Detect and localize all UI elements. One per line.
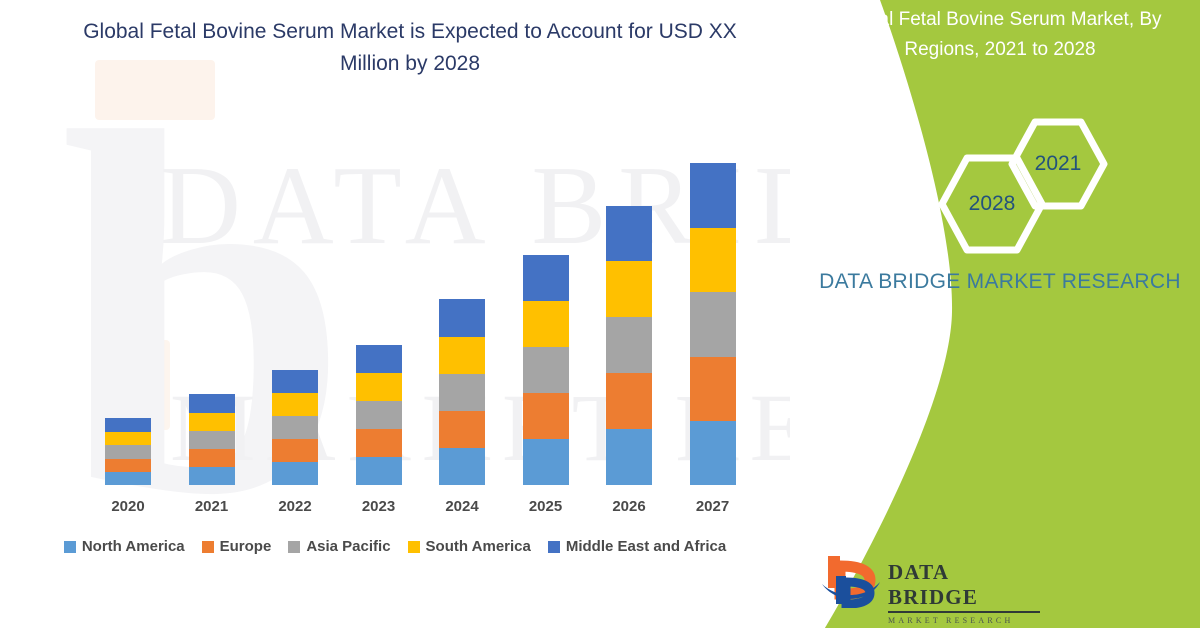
hex-2028: 2028 — [938, 154, 1046, 254]
legend-swatch-icon — [548, 541, 560, 553]
legend-label: Europe — [220, 538, 272, 555]
bar-segment[interactable] — [105, 472, 151, 485]
bar-2022[interactable] — [272, 370, 318, 485]
bar-segment[interactable] — [105, 459, 151, 472]
brand-name: DATA BRIDGE MARKET RESEARCH — [800, 268, 1200, 296]
bar-segment[interactable] — [690, 292, 736, 357]
hexagon-group: 2021 2028 — [908, 118, 1108, 248]
bar-segment[interactable] — [272, 439, 318, 462]
bar-segment[interactable] — [356, 401, 402, 429]
bar-2025[interactable] — [523, 255, 569, 485]
bar-segment[interactable] — [439, 448, 485, 485]
green-side-panel — [760, 0, 1200, 628]
bar-segment[interactable] — [523, 301, 569, 347]
bar-segment[interactable] — [606, 429, 652, 485]
x-axis-label-2022: 2022 — [260, 498, 330, 515]
legend-item-north-america[interactable]: North America — [64, 538, 185, 555]
bar-segment[interactable] — [606, 373, 652, 429]
bar-segment[interactable] — [523, 347, 569, 393]
hex-2021-label: 2021 — [1035, 152, 1082, 176]
x-axis-labels: 20202021202220232024202520262027 — [0, 498, 790, 522]
bar-segment[interactable] — [690, 163, 736, 228]
x-axis-label-2021: 2021 — [177, 498, 247, 515]
bar-segment[interactable] — [356, 345, 402, 373]
legend-label: Asia Pacific — [306, 538, 390, 555]
logo-text: DATA BRIDGE MARKET RESEARCH — [888, 560, 1040, 625]
bar-segment[interactable] — [105, 418, 151, 432]
bar-segment[interactable] — [690, 421, 736, 485]
bar-2027[interactable] — [690, 163, 736, 485]
hex-2028-label: 2028 — [969, 192, 1016, 216]
x-axis-label-2025: 2025 — [511, 498, 581, 515]
bar-segment[interactable] — [356, 429, 402, 457]
bar-segment[interactable] — [523, 255, 569, 301]
bar-segment[interactable] — [189, 449, 235, 467]
bar-segment[interactable] — [272, 462, 318, 485]
bar-2024[interactable] — [439, 299, 485, 485]
legend-item-south-america[interactable]: South America — [408, 538, 531, 555]
bar-segment[interactable] — [439, 374, 485, 411]
bar-2021[interactable] — [189, 394, 235, 485]
bar-segment[interactable] — [690, 357, 736, 421]
infographic-canvas: b DATA BRIDGE MARKET RESEARCH Global Fet… — [0, 0, 1200, 628]
chart-title: Global Fetal Bovine Serum Market is Expe… — [60, 16, 760, 80]
bar-segment[interactable] — [523, 439, 569, 485]
legend-label: Middle East and Africa — [566, 538, 726, 555]
legend-swatch-icon — [288, 541, 300, 553]
logo-sub-text: MARKET RESEARCH — [888, 616, 1040, 625]
bar-segment[interactable] — [105, 432, 151, 445]
bar-segment[interactable] — [690, 228, 736, 292]
x-axis-label-2024: 2024 — [427, 498, 497, 515]
chart-area: Global Fetal Bovine Serum Market is Expe… — [0, 0, 790, 628]
databridge-b-icon — [820, 554, 882, 608]
bar-segment[interactable] — [189, 394, 235, 413]
legend-swatch-icon — [202, 541, 214, 553]
bar-segment[interactable] — [189, 467, 235, 485]
legend-item-middle-east-and-africa[interactable]: Middle East and Africa — [548, 538, 726, 555]
legend-swatch-icon — [64, 541, 76, 553]
bar-segment[interactable] — [272, 393, 318, 416]
bar-segment[interactable] — [356, 373, 402, 401]
company-logo: DATA BRIDGE MARKET RESEARCH — [820, 552, 1040, 610]
legend-item-europe[interactable]: Europe — [202, 538, 272, 555]
chart-legend: North AmericaEuropeAsia PacificSouth Ame… — [0, 538, 790, 555]
bar-segment[interactable] — [356, 457, 402, 485]
bar-segment[interactable] — [606, 206, 652, 261]
bar-segment[interactable] — [272, 370, 318, 393]
bar-segment[interactable] — [189, 431, 235, 449]
bar-segment[interactable] — [606, 261, 652, 317]
x-axis-label-2027: 2027 — [678, 498, 748, 515]
logo-mark-icon — [820, 554, 882, 608]
legend-label: North America — [82, 538, 185, 555]
x-axis-label-2023: 2023 — [344, 498, 414, 515]
bar-2026[interactable] — [606, 206, 652, 485]
logo-main-text: DATA BRIDGE — [888, 560, 1040, 613]
bar-segment[interactable] — [439, 411, 485, 448]
legend-label: South America — [426, 538, 531, 555]
bar-segment[interactable] — [105, 445, 151, 459]
bar-2020[interactable] — [105, 418, 151, 485]
bar-segment[interactable] — [272, 416, 318, 439]
legend-swatch-icon — [408, 541, 420, 553]
bar-segment[interactable] — [606, 317, 652, 373]
x-axis-label-2020: 2020 — [93, 498, 163, 515]
bar-segment[interactable] — [523, 393, 569, 439]
bar-segment[interactable] — [189, 413, 235, 431]
bar-segment[interactable] — [439, 299, 485, 337]
legend-item-asia-pacific[interactable]: Asia Pacific — [288, 538, 390, 555]
x-axis-label-2026: 2026 — [594, 498, 664, 515]
side-panel-title: Global Fetal Bovine Serum Market, By Reg… — [800, 5, 1200, 65]
bar-segment[interactable] — [439, 337, 485, 374]
bar-2023[interactable] — [356, 345, 402, 485]
